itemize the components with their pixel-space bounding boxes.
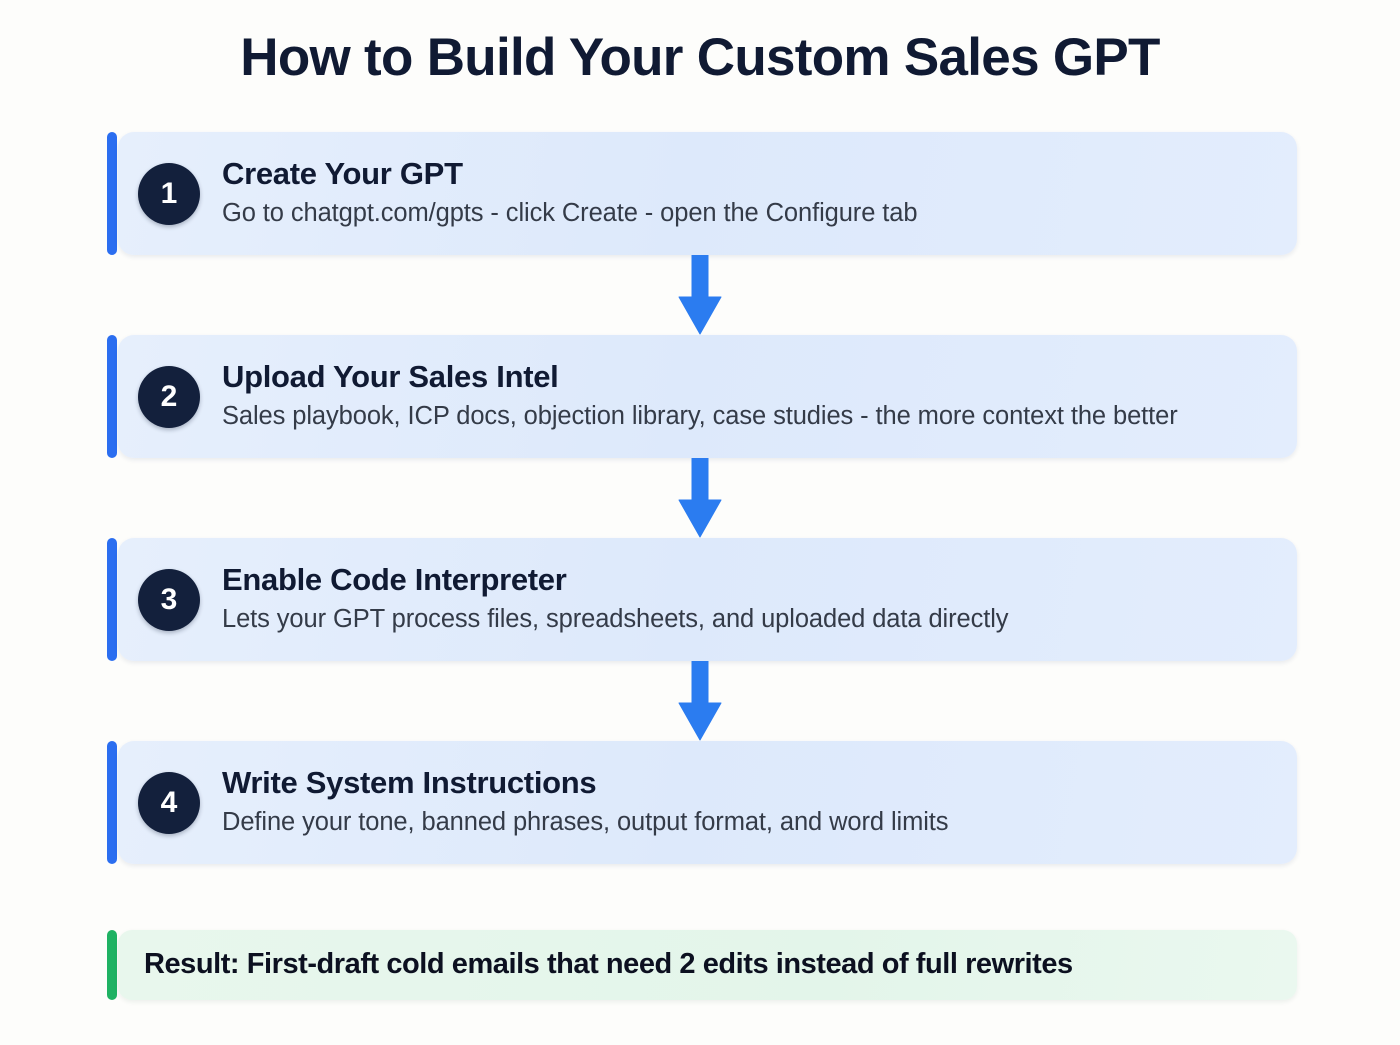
- step-accent-bar: [107, 132, 117, 255]
- result-accent-bar: [107, 930, 117, 1000]
- step-card-3[interactable]: 3 Enable Code Interpreter Lets your GPT …: [107, 538, 1297, 661]
- step-card-2[interactable]: 2 Upload Your Sales Intel Sales playbook…: [107, 335, 1297, 458]
- step-row: 2 Upload Your Sales Intel Sales playbook…: [107, 335, 1297, 458]
- step-description: Define your tone, banned phrases, output…: [222, 805, 1271, 840]
- step-title: Upload Your Sales Intel: [222, 359, 1271, 396]
- step-accent-bar: [107, 538, 117, 661]
- step-row: 1 Create Your GPT Go to chatgpt.com/gpts…: [107, 132, 1297, 255]
- connector-arrow-3: [0, 661, 1400, 741]
- step-description: Lets your GPT process files, spreadsheet…: [222, 602, 1271, 637]
- infographic-page: How to Build Your Custom Sales GPT 1 Cre…: [0, 0, 1400, 1045]
- step-title: Create Your GPT: [222, 156, 1271, 193]
- step-card-body: 4 Write System Instructions Define your …: [118, 741, 1297, 864]
- step-card-4[interactable]: 4 Write System Instructions Define your …: [107, 741, 1297, 864]
- step-row: 3 Enable Code Interpreter Lets your GPT …: [107, 538, 1297, 661]
- step-description: Sales playbook, ICP docs, objection libr…: [222, 399, 1271, 434]
- step-text-block: Create Your GPT Go to chatgpt.com/gpts -…: [222, 156, 1271, 230]
- step-text-block: Upload Your Sales Intel Sales playbook, …: [222, 359, 1271, 433]
- connector-arrow-1: [0, 255, 1400, 335]
- step-number-badge: 2: [138, 366, 200, 428]
- step-text-block: Write System Instructions Define your to…: [222, 765, 1271, 839]
- step-number-badge: 4: [138, 772, 200, 834]
- down-arrow-icon: [678, 458, 722, 538]
- step-accent-bar: [107, 335, 117, 458]
- step-title: Enable Code Interpreter: [222, 562, 1271, 599]
- result-banner: Result: First-draft cold emails that nee…: [107, 930, 1297, 1000]
- step-card-body: 1 Create Your GPT Go to chatgpt.com/gpts…: [118, 132, 1297, 255]
- connector-arrow-2: [0, 458, 1400, 538]
- steps-list: 1 Create Your GPT Go to chatgpt.com/gpts…: [107, 132, 1297, 864]
- step-accent-bar: [107, 741, 117, 864]
- step-row: 4 Write System Instructions Define your …: [107, 741, 1297, 864]
- step-card-body: 2 Upload Your Sales Intel Sales playbook…: [118, 335, 1297, 458]
- page-title: How to Build Your Custom Sales GPT: [0, 28, 1400, 89]
- result-text: Result: First-draft cold emails that nee…: [144, 949, 1073, 981]
- result-card-body: Result: First-draft cold emails that nee…: [118, 930, 1297, 1000]
- step-description: Go to chatgpt.com/gpts - click Create - …: [222, 196, 1271, 231]
- down-arrow-icon: [678, 255, 722, 335]
- step-number-badge: 3: [138, 569, 200, 631]
- step-card-body: 3 Enable Code Interpreter Lets your GPT …: [118, 538, 1297, 661]
- step-text-block: Enable Code Interpreter Lets your GPT pr…: [222, 562, 1271, 636]
- step-number-badge: 1: [138, 163, 200, 225]
- down-arrow-icon: [678, 661, 722, 741]
- step-card-1[interactable]: 1 Create Your GPT Go to chatgpt.com/gpts…: [107, 132, 1297, 255]
- step-title: Write System Instructions: [222, 765, 1271, 802]
